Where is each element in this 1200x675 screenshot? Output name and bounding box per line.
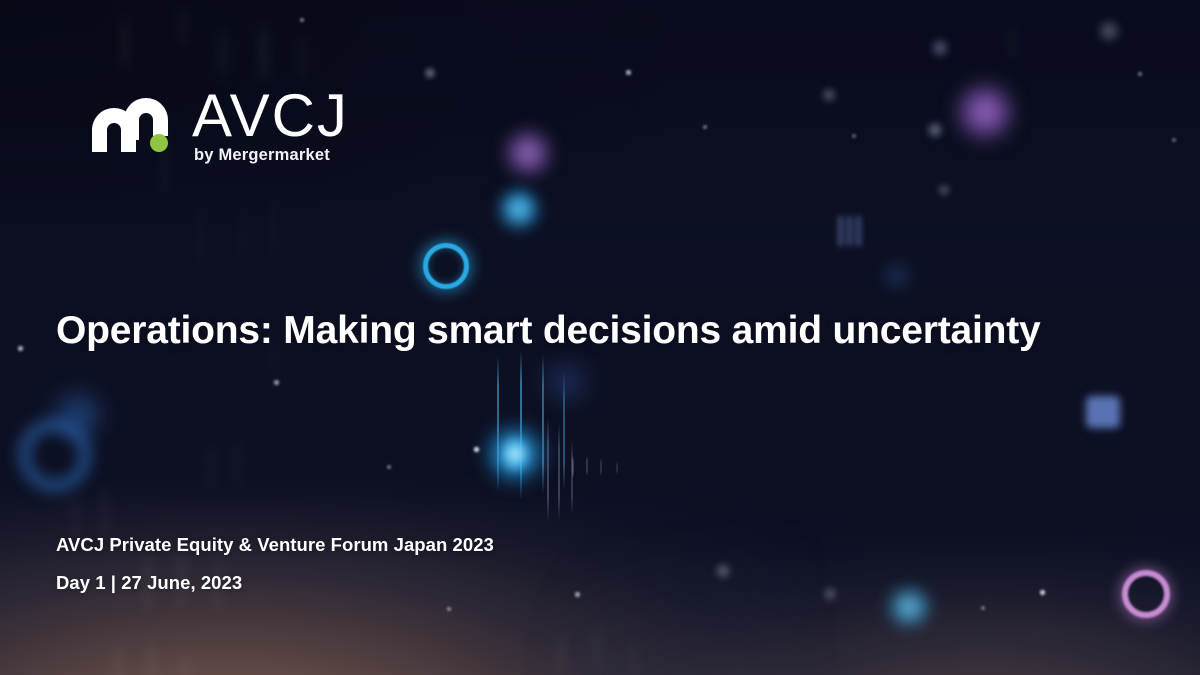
spark-dot <box>387 465 391 469</box>
spark-dot <box>474 447 479 452</box>
vertical-bar-motif <box>268 192 278 262</box>
avcj-logo: AVCJ by Mergermarket <box>88 92 348 174</box>
cyan-orb-glow <box>889 588 929 626</box>
vertical-bar-motif <box>218 22 228 84</box>
session-date: Day 1 | 27 June, 2023 <box>56 572 494 594</box>
blue-orb-glow <box>540 360 592 404</box>
vertical-bar-motif <box>628 636 639 675</box>
spark-dot <box>703 125 707 129</box>
spark-dot <box>447 607 451 611</box>
presentation-slide: AVCJ by Mergermarket Operations: Making … <box>0 0 1200 675</box>
vertical-bar-motif <box>232 436 242 492</box>
vertical-line-motif <box>600 458 602 476</box>
avcj-wordmark: AVCJ <box>192 86 349 146</box>
pink-ring-glow <box>1122 570 1170 618</box>
rounded-square-motif <box>933 41 947 55</box>
vertical-line-motif <box>572 456 574 478</box>
vertical-bar-motif <box>1008 22 1018 62</box>
slide-footer: AVCJ Private Equity & Venture Forum Japa… <box>56 534 494 594</box>
vertical-line-motif <box>616 462 618 474</box>
vertical-bar-motif <box>120 10 130 76</box>
vertical-bar-motif <box>180 648 191 675</box>
vertical-line-motif <box>586 456 588 476</box>
vertical-line-motif <box>547 418 549 522</box>
white-orb-glow <box>713 561 733 581</box>
white-orb-glow <box>936 182 952 198</box>
spark-dot <box>274 380 279 385</box>
vertical-bar-motif <box>112 640 123 675</box>
white-orb-glow <box>820 86 838 104</box>
white-orb-glow <box>423 66 437 80</box>
avcj-tagline: by Mergermarket <box>194 146 330 165</box>
spark-dot <box>626 70 631 75</box>
vertical-bar-motif <box>206 440 216 494</box>
cyan-ring-glow <box>423 243 469 289</box>
spark-dot <box>18 346 23 351</box>
spark-dot <box>852 134 856 138</box>
white-orb-glow <box>1096 18 1122 44</box>
vertical-bar-motif <box>146 636 157 675</box>
vertical-line-motif <box>558 424 560 520</box>
cyan-orb-glow <box>503 437 527 471</box>
vertical-bar-motif <box>298 30 308 86</box>
slide-title: Operations: Making smart decisions amid … <box>56 309 1041 353</box>
spark-dot <box>981 606 985 610</box>
purple-orb-glow <box>955 82 1015 142</box>
avcj-arches-mark-icon <box>88 96 174 152</box>
vertical-bar-motif <box>196 196 206 274</box>
cyan-orb-glow <box>498 188 540 230</box>
spark-dot <box>1172 138 1176 142</box>
vertical-bar-motif <box>178 0 188 52</box>
event-name: AVCJ Private Equity & Venture Forum Japa… <box>56 534 494 556</box>
spark-dot <box>300 18 304 22</box>
rounded-square-motif <box>1086 396 1120 428</box>
white-orb-glow <box>821 585 839 603</box>
blue-ring-glow <box>18 418 92 492</box>
bar-block-motif <box>838 216 861 246</box>
spark-dot <box>1040 590 1045 595</box>
spark-dot <box>1138 72 1142 76</box>
vertical-bar-motif <box>258 16 269 88</box>
background-warm-glow-right <box>576 567 1200 675</box>
vertical-bar-motif <box>592 618 603 675</box>
blue-orb-glow <box>880 260 914 292</box>
white-orb-glow <box>925 120 945 140</box>
vertical-bar-motif <box>556 628 567 675</box>
purple-orb-glow <box>505 130 551 176</box>
spark-dot <box>575 592 580 597</box>
vertical-bar-motif <box>238 200 248 266</box>
